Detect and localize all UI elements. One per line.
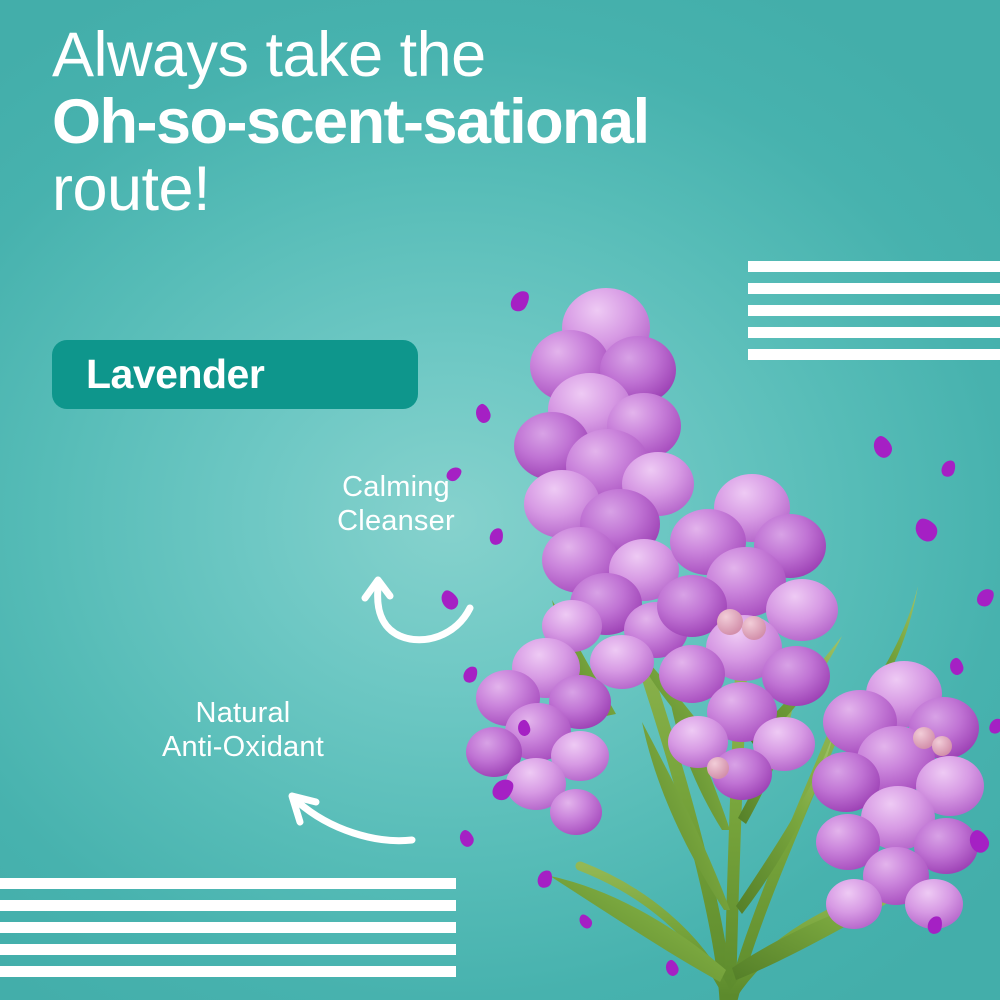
stripe [748, 349, 1000, 360]
scent-badge[interactable]: Lavender [52, 340, 418, 409]
stripe [0, 922, 456, 933]
stripe [0, 900, 456, 911]
lavender-flowers-image [430, 270, 1000, 1000]
stripe [748, 261, 1000, 272]
stripes-bottom-left [0, 878, 456, 977]
annotation-natural-anti-oxidant-line-2: Anti-Oxidant [128, 730, 358, 764]
page-title: Always take the Oh-so-scent-sational rou… [52, 24, 932, 221]
stripe [748, 283, 1000, 294]
stripe [0, 966, 456, 977]
stripe [748, 305, 1000, 316]
scent-badge-label: Lavender [52, 351, 264, 398]
stripe [0, 878, 456, 889]
stripe [0, 944, 456, 955]
annotation-calming-cleanser-line-2: Cleanser [296, 504, 496, 538]
stripes-top-right [748, 261, 1000, 360]
annotation-calming-cleanser: Calming Cleanser [296, 470, 496, 538]
stripe [748, 327, 1000, 338]
lavender-illustration [430, 270, 1000, 1000]
annotation-natural-anti-oxidant-line-1: Natural [128, 696, 358, 730]
annotation-calming-cleanser-line-1: Calming [296, 470, 496, 504]
flower-spike-left [514, 288, 694, 689]
headline-line-2: Oh-so-scent-sational [52, 91, 932, 154]
curved-arrow-up-icon [352, 552, 482, 652]
curved-arrow-left-icon [272, 782, 422, 852]
annotation-natural-anti-oxidant: Natural Anti-Oxidant [128, 696, 358, 764]
flower-spike-right [812, 661, 984, 929]
headline-line-3: route! [52, 158, 932, 221]
poster-canvas: Always take the Oh-so-scent-sational rou… [0, 0, 1000, 1000]
headline-line-1: Always take the [52, 24, 932, 87]
